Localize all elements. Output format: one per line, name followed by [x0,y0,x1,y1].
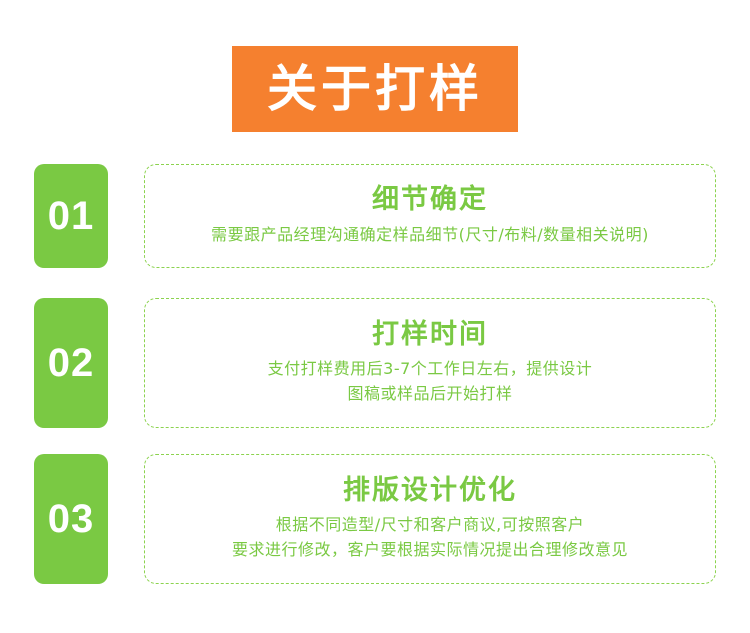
step-description-line: 要求进行修改，客户要根据实际情况提出合理修改意见 [232,538,628,563]
section-row-01: 01 细节确定 需要跟产品经理沟通确定样品细节(尺寸/布料/数量相关说明) [34,164,716,268]
step-card-03: 排版设计优化 根据不同造型/尺寸和客户商议,可按照客户 要求进行修改，客户要根据… [144,454,716,584]
step-title-02: 打样时间 [372,319,488,351]
section-row-02: 02 打样时间 支付打样费用后3-7个工作日左右，提供设计 图稿或样品后开始打样 [34,298,716,428]
step-number-badge-01: 01 [34,164,108,268]
step-description-line: 图稿或样品后开始打样 [347,382,512,407]
step-number-badge-03: 03 [34,454,108,584]
title-banner: 关于打样 [232,46,518,132]
section-row-03: 03 排版设计优化 根据不同造型/尺寸和客户商议,可按照客户 要求进行修改，客户… [34,454,716,584]
step-description-line: 需要跟产品经理沟通确定样品细节(尺寸/布料/数量相关说明) [211,223,649,248]
step-title-01: 细节确定 [372,184,488,216]
step-number-badge-02: 02 [34,298,108,428]
step-description-line: 根据不同造型/尺寸和客户商议,可按照客户 [276,513,584,538]
promo-page: 关于打样 01 细节确定 需要跟产品经理沟通确定样品细节(尺寸/布料/数量相关说… [0,0,750,633]
page-title: 关于打样 [267,64,483,114]
step-card-02: 打样时间 支付打样费用后3-7个工作日左右，提供设计 图稿或样品后开始打样 [144,298,716,428]
step-description-line: 支付打样费用后3-7个工作日左右，提供设计 [268,357,593,382]
step-title-03: 排版设计优化 [343,475,517,507]
step-card-01: 细节确定 需要跟产品经理沟通确定样品细节(尺寸/布料/数量相关说明) [144,164,716,268]
